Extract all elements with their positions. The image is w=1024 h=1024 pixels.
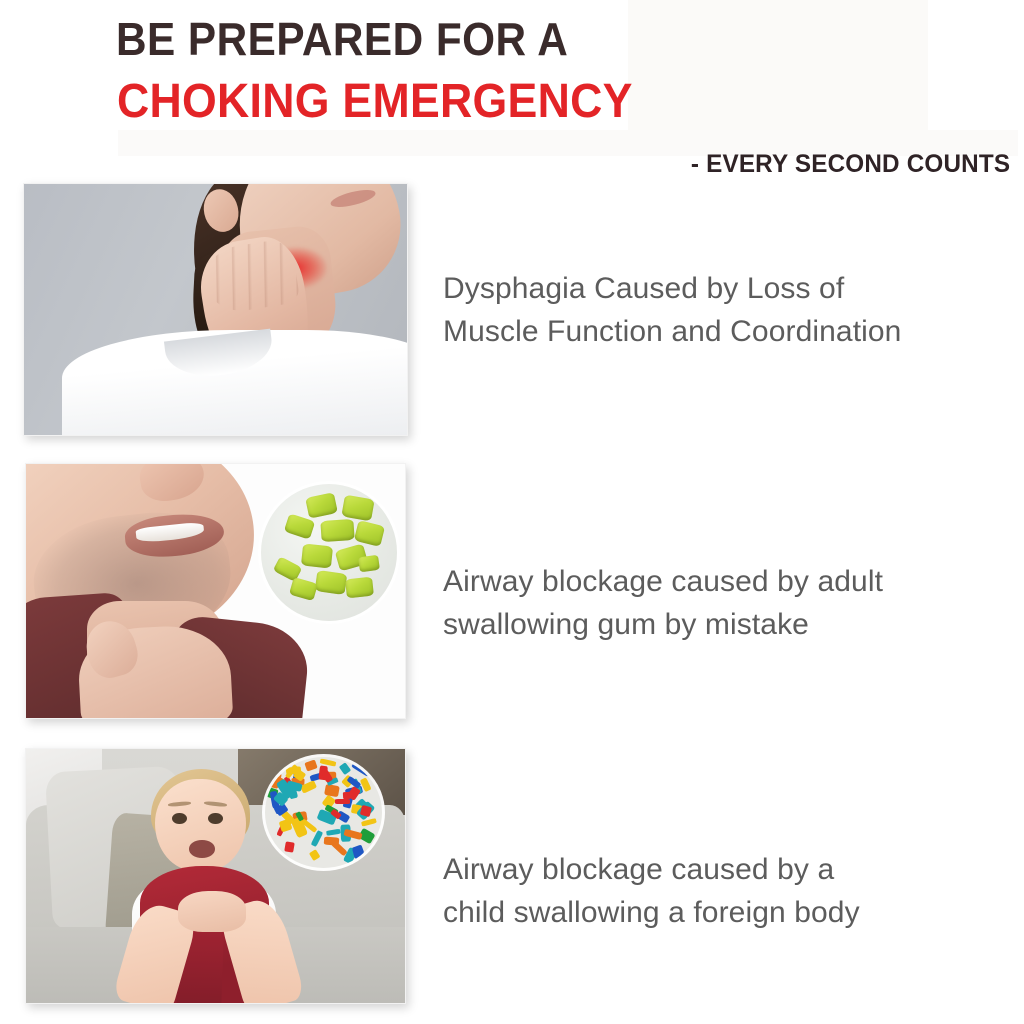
poster-header: BE PREPARED FOR A CHOKING EMERGENCY - EV…: [0, 0, 1024, 182]
man-holding-throat-photo: [25, 463, 406, 719]
eye-left-shape: [172, 813, 187, 824]
gum-piece-shape: [354, 520, 385, 547]
toy-piece-shape: [309, 849, 321, 861]
gum-piece-shape: [358, 554, 380, 572]
gum-piece-shape: [283, 513, 315, 540]
caption-line: Airway blockage caused by adult: [443, 560, 988, 603]
chewing-gum-inset-circle: [261, 484, 397, 621]
headline-line-2: CHOKING EMERGENCY: [117, 76, 633, 128]
toy-piece-shape: [326, 829, 341, 836]
caption-line: Muscle Function and Coordination: [443, 310, 988, 353]
info-row-1: Dysphagia Caused by Loss of Muscle Funct…: [0, 183, 1024, 438]
gum-piece-shape: [306, 493, 338, 519]
caption-line: child swallowing a foreign body: [443, 891, 988, 934]
toy-piece-shape: [285, 842, 295, 853]
gum-piece-shape: [341, 494, 374, 521]
gum-piece-shape: [289, 577, 318, 601]
toy-piece-shape: [311, 830, 323, 847]
gum-piece-shape: [314, 570, 347, 595]
headline-line-1: BE PREPARED FOR A: [116, 14, 568, 64]
caption-row-2: Airway blockage caused by adult swallowi…: [443, 560, 988, 646]
gum-piece-shape: [301, 543, 333, 568]
hands-at-throat-shape: [178, 891, 246, 932]
toy-piece-shape: [339, 763, 351, 775]
caption-row-1: Dysphagia Caused by Loss of Muscle Funct…: [443, 267, 988, 353]
info-row-3: Airway blockage caused by a child swallo…: [0, 748, 1024, 1006]
woman-holding-throat-photo: [23, 183, 408, 436]
caption-line: swallowing gum by mistake: [443, 603, 988, 646]
caption-row-3: Airway blockage caused by a child swallo…: [443, 848, 988, 934]
info-row-2: Airway blockage caused by adult swallowi…: [0, 463, 1024, 721]
caption-line: Airway blockage caused by a: [443, 848, 988, 891]
tagline: - EVERY SECOND COUNTS: [691, 150, 1010, 178]
gum-piece-shape: [345, 576, 374, 598]
plastic-toys-inset-circle: [265, 757, 382, 869]
child-holding-throat-photo: [25, 748, 406, 1004]
toy-piece-shape: [335, 799, 350, 804]
toy-piece-shape: [305, 759, 318, 771]
eye-right-shape: [208, 813, 223, 824]
gum-piece-shape: [320, 519, 354, 542]
toy-piece-shape: [323, 836, 339, 845]
caption-line: Dysphagia Caused by Loss of: [443, 267, 988, 310]
choking-emergency-infographic: BE PREPARED FOR A CHOKING EMERGENCY - EV…: [0, 0, 1024, 1024]
